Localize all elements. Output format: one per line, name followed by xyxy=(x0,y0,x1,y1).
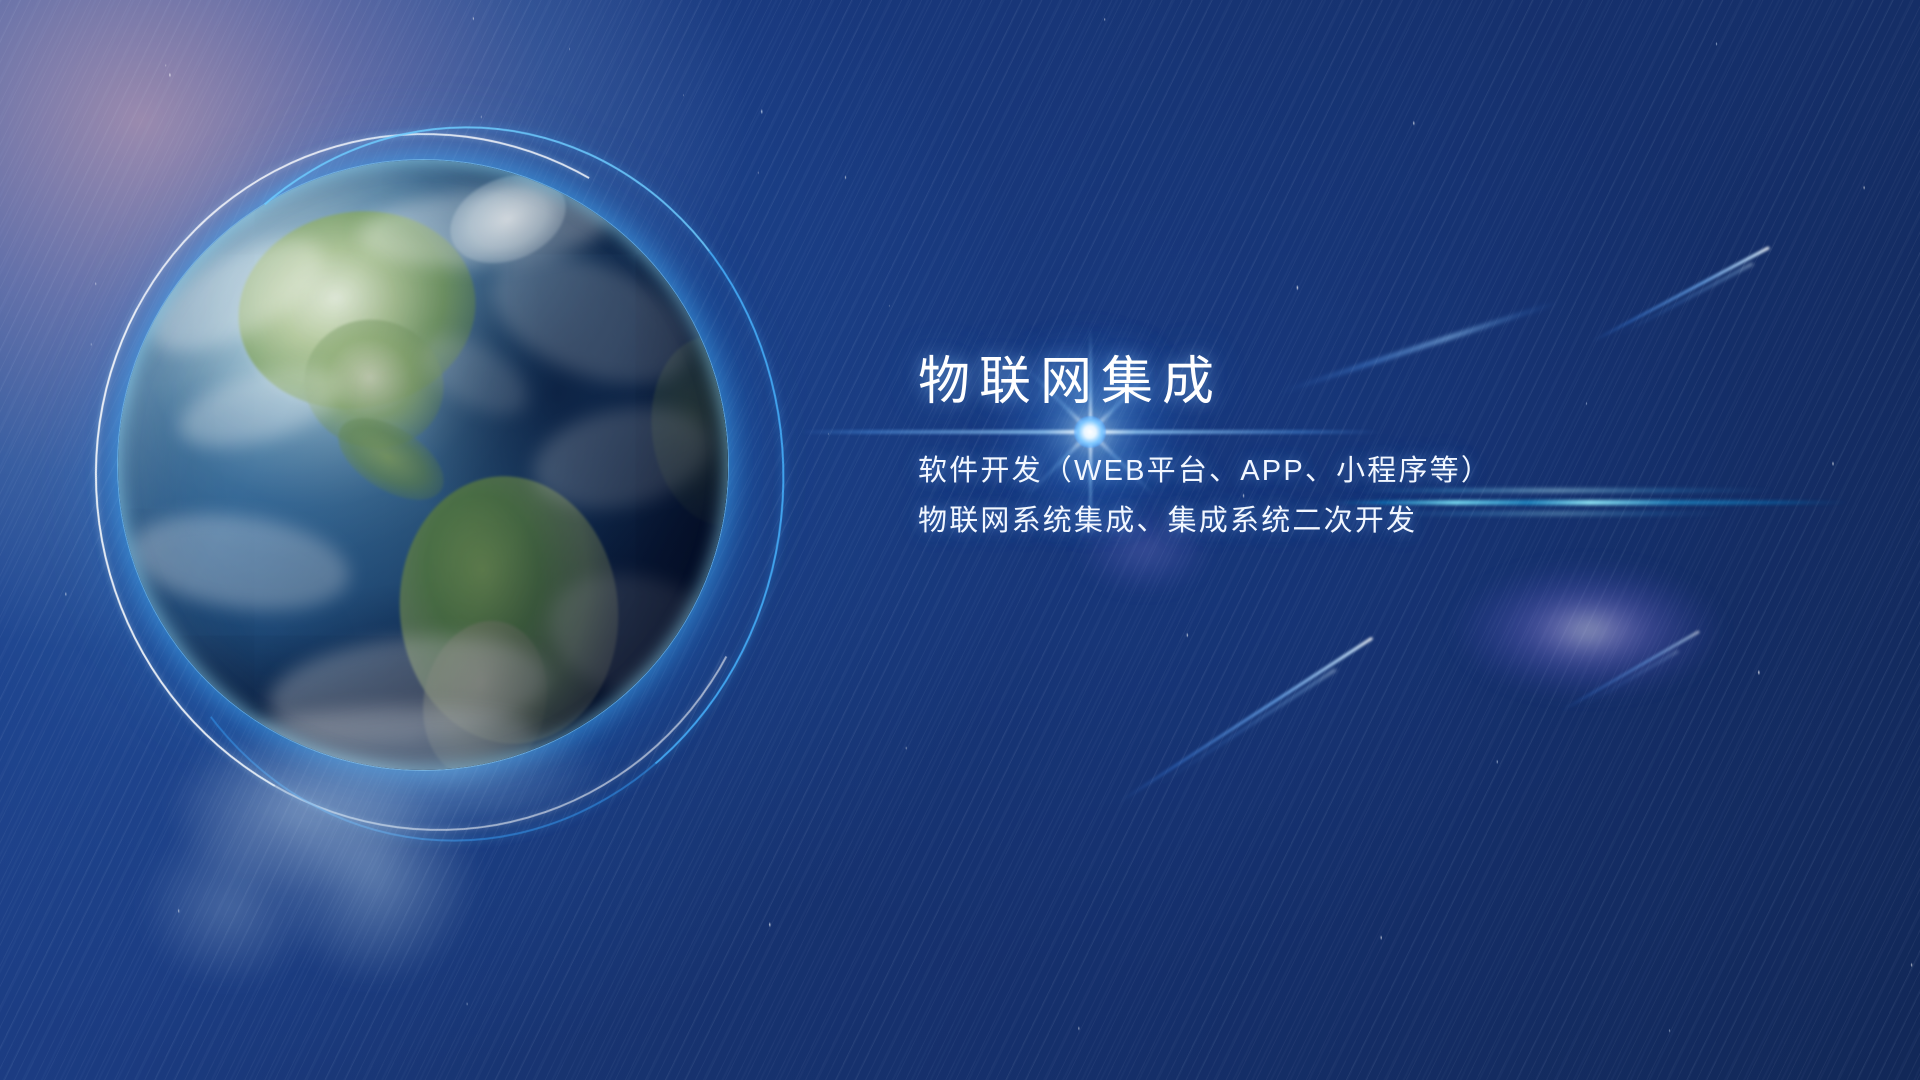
globe-sphere xyxy=(118,160,728,770)
hero-subtitle: 软件开发（WEB平台、APP、小程序等） 物联网系统集成、集成系统二次开发 xyxy=(918,447,1678,547)
globe-limb-highlight xyxy=(118,160,728,770)
earth-globe xyxy=(118,160,728,770)
hero-banner: 物联网集成 软件开发（WEB平台、APP、小程序等） 物联网系统集成、集成系统二… xyxy=(0,0,1920,1080)
hero-copy: 物联网集成 软件开发（WEB平台、APP、小程序等） 物联网系统集成、集成系统二… xyxy=(918,352,1678,547)
hero-subtitle-line-2: 物联网系统集成、集成系统二次开发 xyxy=(918,497,1678,547)
hero-subtitle-line-1: 软件开发（WEB平台、APP、小程序等） xyxy=(918,447,1678,497)
comet-streak-bottom-center-icon xyxy=(1120,637,1372,800)
hero-headline: 物联网集成 xyxy=(918,352,1678,413)
comet-streak-top-right-icon xyxy=(1592,246,1769,340)
comet-streak-lower-right-icon xyxy=(1560,630,1699,710)
violet-lens-flare-icon xyxy=(1458,565,1718,695)
